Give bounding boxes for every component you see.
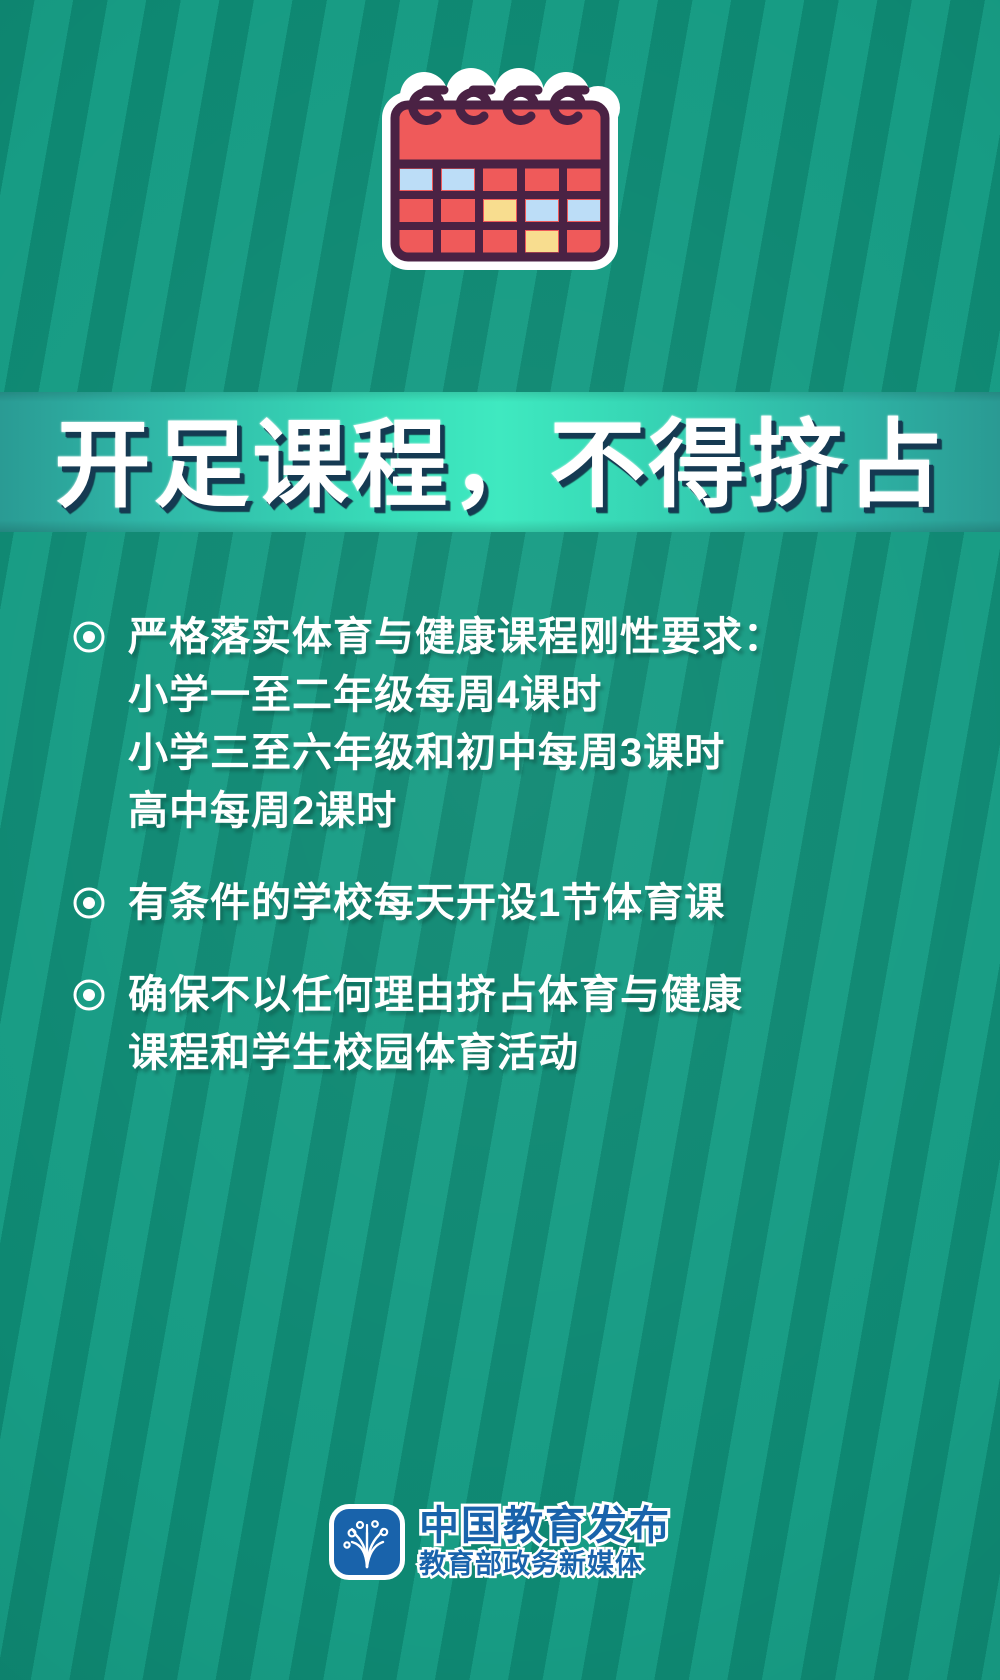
- bullet-line: 有条件的学校每天开设1节体育课: [128, 874, 944, 932]
- list-item-text: 严格落实体育与健康课程刚性要求： 小学一至二年级每周4课时 小学三至六年级和初中…: [128, 608, 944, 840]
- bullet-line: 小学三至六年级和初中每周3课时: [128, 724, 944, 782]
- bullet-line: 严格落实体育与健康课程刚性要求：: [128, 608, 944, 666]
- logo-group: 中国教育发布 教育部政务新媒体: [329, 1504, 671, 1580]
- footer-branding: 中国教育发布 教育部政务新媒体: [0, 1504, 1000, 1580]
- list-item-text: 确保不以任何理由挤占体育与健康 课程和学生校园体育活动: [128, 966, 944, 1082]
- poster-root: 开足课程，不得挤占 严格落实体育与健康课程刚性要求： 小学一至二年级每周4课时 …: [0, 0, 1000, 1680]
- bullet-line: 小学一至二年级每周4课时: [128, 666, 944, 724]
- list-item: 确保不以任何理由挤占体育与健康 课程和学生校园体育活动: [72, 966, 944, 1082]
- bullet-list: 严格落实体育与健康课程刚性要求： 小学一至二年级每周4课时 小学三至六年级和初中…: [72, 608, 944, 1116]
- banner-top-shade: [0, 392, 1000, 402]
- calendar-icon: [370, 62, 630, 277]
- brand-name: 中国教育发布: [419, 1505, 671, 1548]
- list-item-text: 有条件的学校每天开设1节体育课: [128, 874, 944, 932]
- list-item: 严格落实体育与健康课程刚性要求： 小学一至二年级每周4课时 小学三至六年级和初中…: [72, 608, 944, 840]
- page-title: 开足课程，不得挤占: [55, 418, 946, 514]
- brand-subtitle: 教育部政务新媒体: [419, 1550, 671, 1580]
- bullet-line: 确保不以任何理由挤占体育与健康: [128, 966, 944, 1024]
- title-banner: 开足课程，不得挤占: [0, 392, 1000, 532]
- list-item: 有条件的学校每天开设1节体育课: [72, 874, 944, 932]
- target-bullet-icon: [72, 978, 114, 1012]
- banner-bottom-shade: [0, 520, 1000, 532]
- target-bullet-icon: [72, 886, 114, 920]
- logo-text: 中国教育发布 教育部政务新媒体: [419, 1505, 671, 1580]
- target-bullet-icon: [72, 620, 114, 654]
- hero-illustration: [0, 62, 1000, 277]
- bullet-line: 高中每周2课时: [128, 782, 944, 840]
- bullet-line: 课程和学生校园体育活动: [128, 1024, 944, 1082]
- dandelion-logo-icon: [329, 1504, 405, 1580]
